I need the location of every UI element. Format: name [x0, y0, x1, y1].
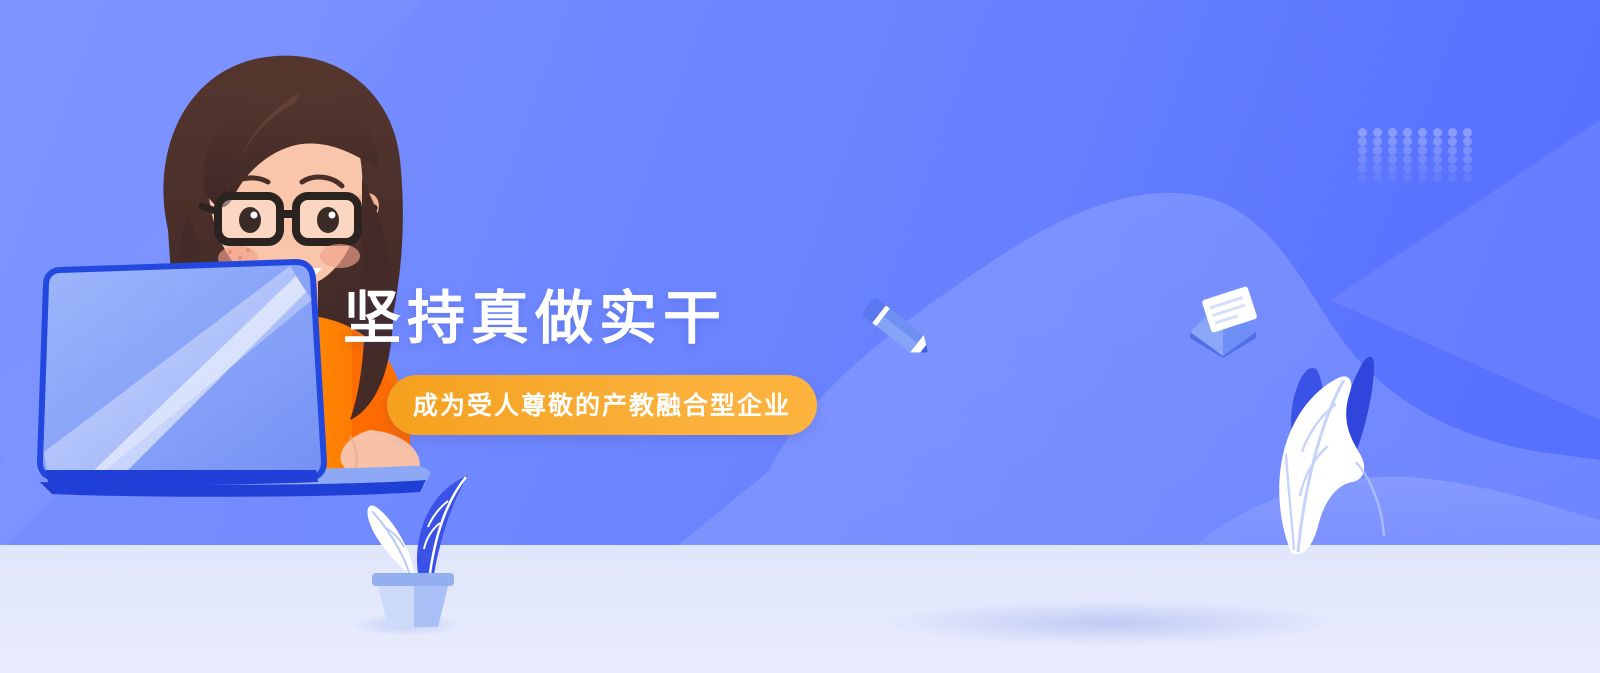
eye-right: [317, 207, 339, 233]
cheek-right: [320, 244, 360, 268]
eye-highlight: [329, 212, 336, 219]
dot: [1388, 128, 1397, 137]
dot: [1463, 173, 1472, 182]
dot: [1358, 146, 1367, 155]
dot: [1463, 164, 1472, 173]
dot: [1403, 155, 1412, 164]
dot: [1403, 164, 1412, 173]
dot: [1358, 164, 1367, 173]
laptop-shadow: [880, 600, 1340, 646]
dot: [1448, 146, 1457, 155]
dot: [1433, 164, 1442, 173]
dot: [1388, 164, 1397, 173]
hero-banner: 坚持真做实干 成为受人尊敬的产教融合型企业: [0, 0, 1600, 673]
desk-floor-surface: [0, 545, 1600, 673]
laptop-lid-rim: [46, 470, 318, 485]
dot: [1463, 128, 1472, 137]
dot: [1448, 164, 1457, 173]
dot: [1403, 146, 1412, 155]
dot: [1418, 137, 1427, 146]
dot: [1358, 173, 1367, 182]
dot: [1388, 146, 1397, 155]
dot: [1373, 128, 1382, 137]
dot: [1403, 137, 1412, 146]
dot: [1388, 155, 1397, 164]
dot: [1433, 146, 1442, 155]
dot: [1448, 155, 1457, 164]
dot: [1418, 155, 1427, 164]
dot: [1418, 128, 1427, 137]
dot: [1373, 164, 1382, 173]
dot: [1358, 155, 1367, 164]
dot: [1403, 173, 1412, 182]
dot: [1418, 173, 1427, 182]
dot: [1403, 128, 1412, 137]
dot: [1433, 173, 1442, 182]
eye-left: [239, 207, 261, 233]
dot: [1388, 137, 1397, 146]
dot: [1373, 155, 1382, 164]
dot: [1373, 137, 1382, 146]
page-title: 坚持真做实干: [343, 288, 863, 351]
dot: [1463, 146, 1472, 155]
dot-grid-right: [1358, 128, 1478, 182]
dot: [1463, 137, 1472, 146]
pencil-icon: [852, 288, 944, 370]
tagline-badge: 成为受人尊敬的产教融合型企业: [387, 375, 817, 435]
dot: [1433, 137, 1442, 146]
dot: [1418, 146, 1427, 155]
dot: [1433, 155, 1442, 164]
leaf-icon: [1248, 330, 1388, 555]
dot: [1388, 173, 1397, 182]
dot: [1448, 173, 1457, 182]
dot: [1448, 137, 1457, 146]
dot: [1418, 164, 1427, 173]
dot: [1373, 173, 1382, 182]
dot: [1373, 146, 1382, 155]
banner-copy: 坚持真做实干 成为受人尊敬的产教融合型企业: [343, 288, 863, 435]
dot: [1463, 155, 1472, 164]
dot: [1358, 137, 1367, 146]
dot: [1358, 128, 1367, 137]
dot: [1433, 128, 1442, 137]
eye-highlight: [251, 212, 258, 219]
dot: [1448, 128, 1457, 137]
